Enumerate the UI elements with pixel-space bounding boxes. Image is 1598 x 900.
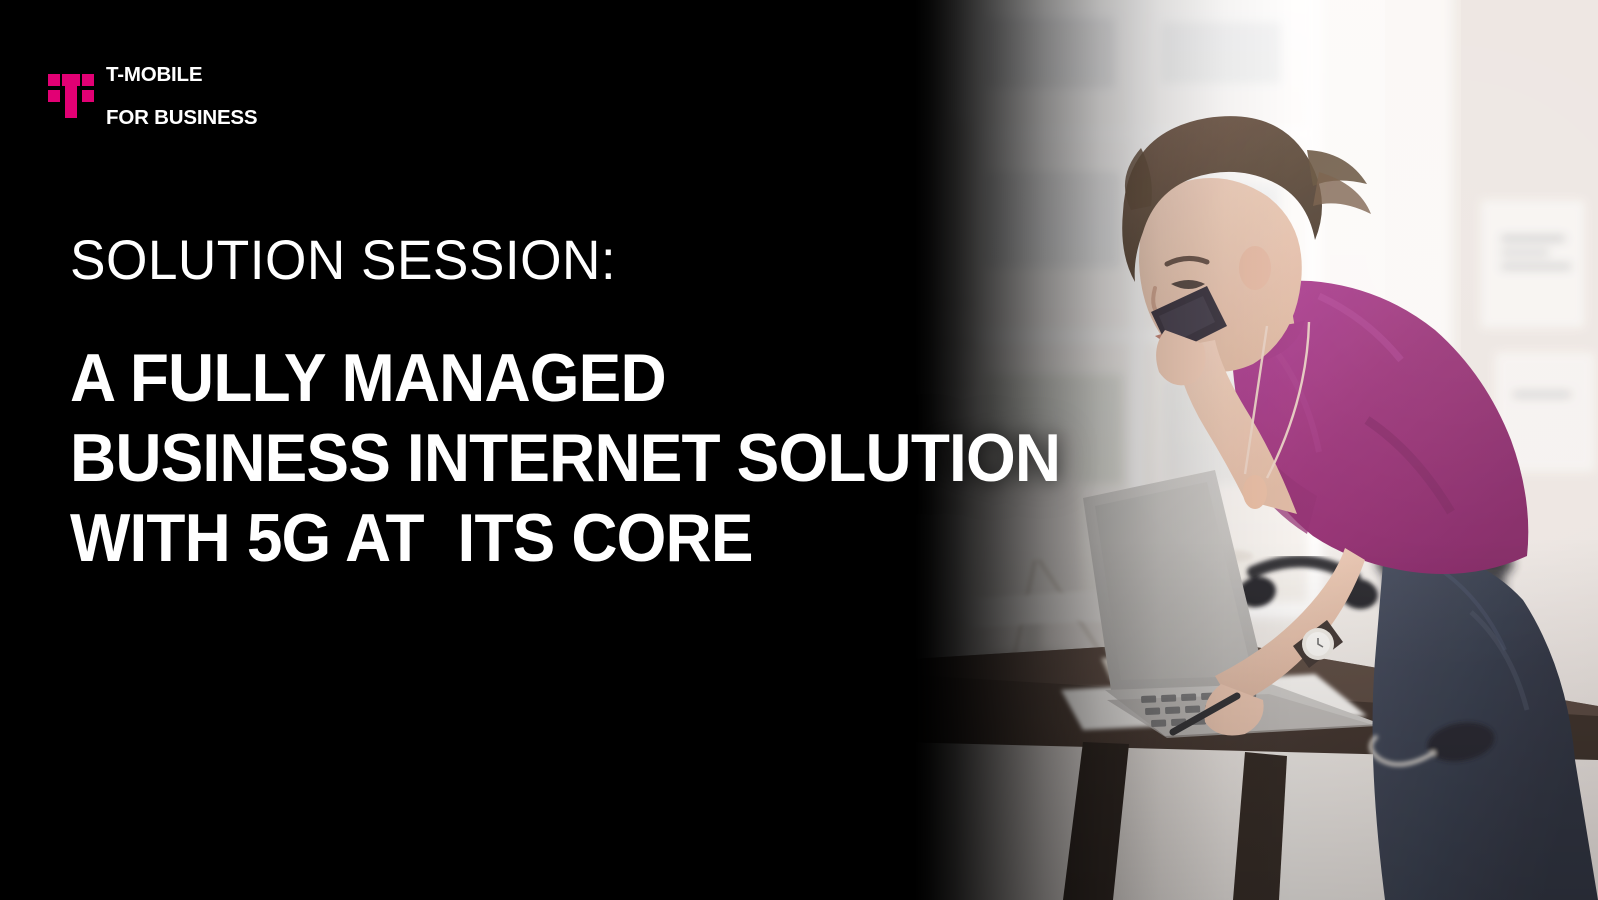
headline-line-1: A FULLY MANAGED <box>70 338 1060 418</box>
t-mobile-t-icon <box>48 74 94 118</box>
eyebrow-text: SOLUTION SESSION: <box>70 232 1071 288</box>
headline-line-3: WITH 5G AT ITS CORE <box>70 498 1060 578</box>
logo-line-2: FOR BUSINESS <box>106 107 257 129</box>
presentation-slide: T-MOBILE FOR BUSINESS SOLUTION SESSION: … <box>0 0 1598 900</box>
t-mobile-for-business-logo: T-MOBILE FOR BUSINESS <box>48 42 257 151</box>
page-title: A FULLY MANAGED BUSINESS INTERNET SOLUTI… <box>70 338 1123 578</box>
slide-copy-block: SOLUTION SESSION: A FULLY MANAGED BUSINE… <box>70 232 1123 578</box>
headline-line-2: BUSINESS INTERNET SOLUTION <box>70 418 1060 498</box>
logo-wordmark: T-MOBILE FOR BUSINESS <box>106 42 257 151</box>
logo-line-1: T-MOBILE <box>106 64 257 86</box>
